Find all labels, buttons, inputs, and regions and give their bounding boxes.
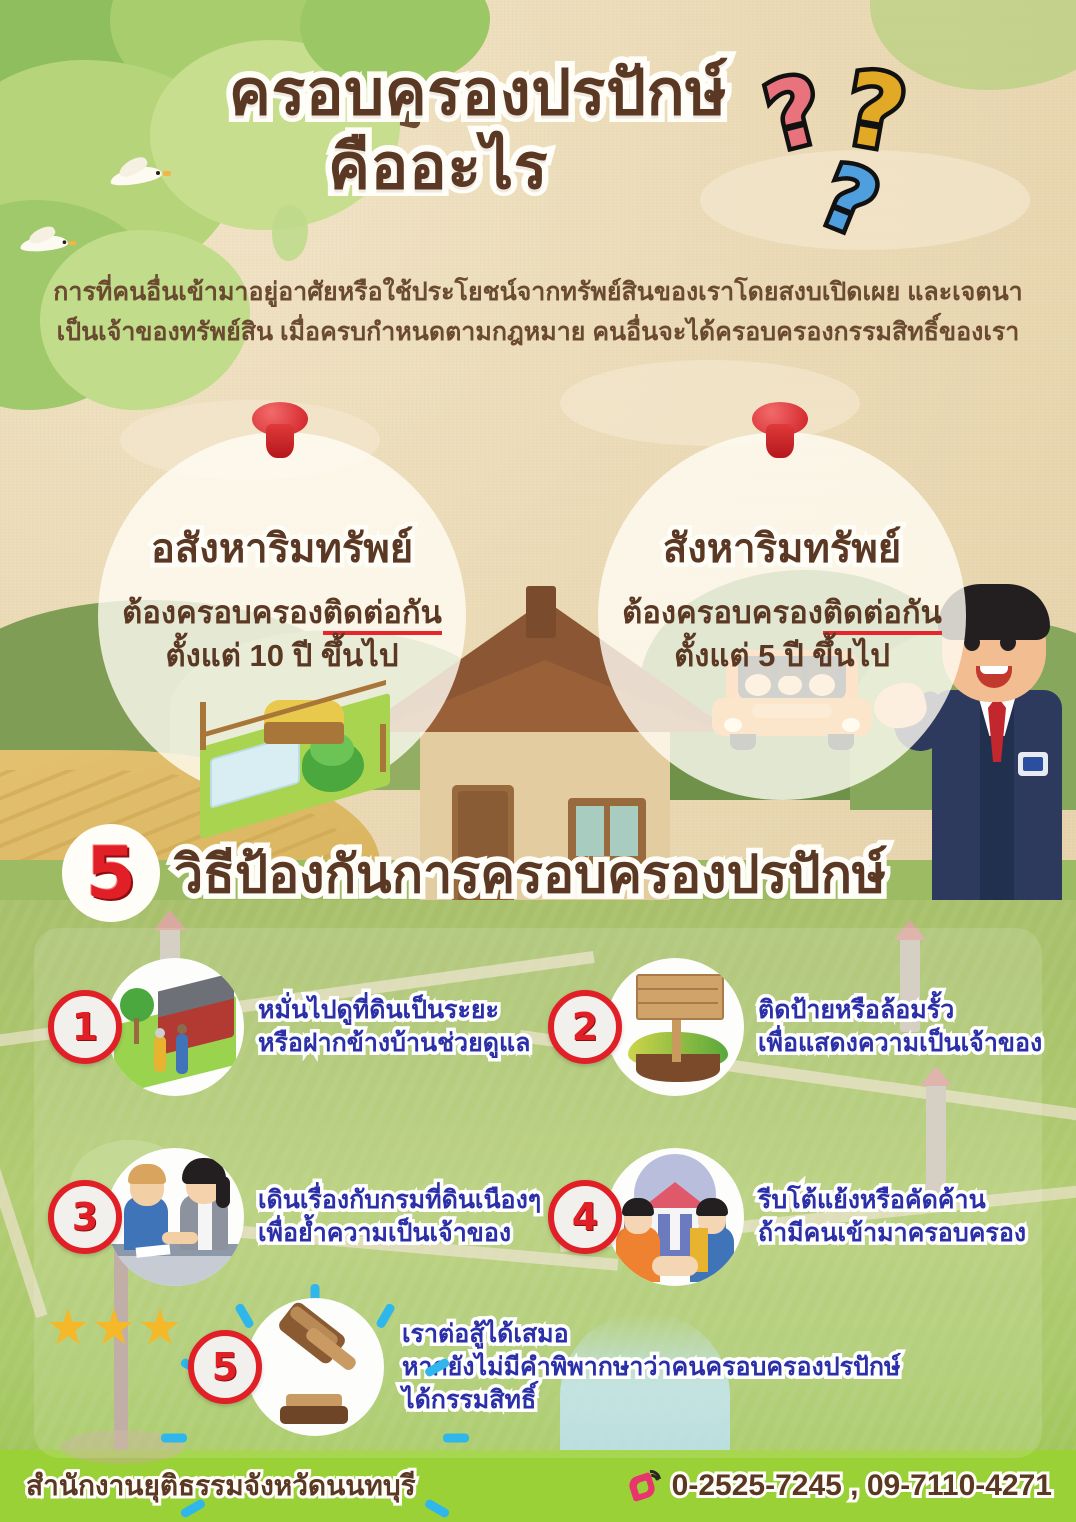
footer: สำนักงานยุติธรรมจังหวัดนนทบุรี 0-2525-72… <box>0 1450 1076 1522</box>
star-icon <box>94 1308 134 1348</box>
tip-line-3: ได้กรรมสิทธิ์ <box>402 1384 901 1417</box>
condition-prefix: ต้องครอบครอง <box>622 595 823 630</box>
cloud-shape <box>560 360 860 446</box>
tip-line-2: เพื่อย้ำความเป็นเจ้าของ <box>258 1217 541 1250</box>
intro-line-2: เป็นเจ้าของทรัพย์สิน เมื่อครบกำหนดตามกฎห… <box>22 312 1054 352</box>
farm-field-people-icon <box>106 958 244 1096</box>
tip-line-2: เพื่อแสดงความเป็นเจ้าของ <box>758 1027 1042 1060</box>
bubble-text-movable: สังหาริมทรัพย์ ต้องครอบครองติดต่อกัน ตั้… <box>572 516 992 678</box>
infographic-page: ครอบครองปรปักษ์ คืออะไร ? ? ? การที่คนอื… <box>0 0 1076 1522</box>
phone-ringing-icon <box>626 1469 660 1503</box>
tip-text: เดินเรื่องกับกรมที่ดินเนืองๆ เพื่อย้ำควา… <box>258 1184 541 1250</box>
star-icon <box>140 1308 180 1348</box>
bubble-condition-line-1: ต้องครอบครองติดต่อกัน <box>72 592 492 635</box>
tip-number-badge: 4 <box>548 1180 622 1254</box>
farm-plot-icon <box>190 688 400 818</box>
bubble-heading: สังหาริมทรัพย์ <box>572 516 992 580</box>
gavel-icon <box>246 1298 384 1436</box>
bubble-condition-line-2: ตั้งแต่ 5 ปี ขึ้นไป <box>572 635 992 678</box>
question-marks-decoration: ? ? ? <box>766 62 966 252</box>
condition-underlined: ติดต่อกัน <box>823 595 942 635</box>
tip-number-badge: 1 <box>48 990 122 1064</box>
tip-line-1: เดินเรื่องกับกรมที่ดินเนืองๆ <box>258 1184 541 1217</box>
tip-item-1: 1 หมั่นไปดูที่ดินเป็นระยะ หรือฝากข้างบ้า… <box>48 958 530 1096</box>
condition-prefix: ต้องครอบครอง <box>122 595 323 630</box>
bird-icon <box>20 227 75 255</box>
bubble-condition-line-1: ต้องครอบครองติดต่อกัน <box>572 592 992 635</box>
consultation-desk-icon <box>106 1148 244 1286</box>
bubble-text-immovable: อสังหาริมทรัพย์ ต้องครอบครองติดต่อกัน ตั… <box>72 516 492 678</box>
tip-line-1: ติดป้ายหรือล้อมรั้ว <box>758 994 1042 1027</box>
tip-line-2: ถ้ามีคนเข้ามาครอบครอง <box>758 1217 1026 1250</box>
tip-item-3: 3 เดินเรื่องกับกรมที่ดินเนืองๆ เพื่อย้ำค… <box>48 1148 541 1286</box>
tip-line-1: เราต่อสู้ได้เสมอ <box>402 1318 901 1351</box>
tip-text: หมั่นไปดูที่ดินเป็นระยะ หรือฝากข้างบ้านช… <box>258 994 530 1060</box>
footer-contact: 0-2525-7245 , 09-7110-4271 <box>626 1469 1052 1503</box>
tip-number-badge: 2 <box>548 990 622 1064</box>
prevention-headline: 5 วิธีป้องกันการครอบครองปรปักษ์ <box>62 824 886 922</box>
condition-underlined: ติดต่อกัน <box>323 595 442 635</box>
footer-organization: สำนักงานยุติธรรมจังหวัดนนทบุรี <box>26 1464 416 1508</box>
tip-item-5: 5 <box>188 1298 901 1436</box>
headline-text: วิธีป้องกันการครอบครองปรปักษ์ <box>174 832 886 915</box>
tip-number-badge: 5 <box>188 1330 262 1404</box>
tip-text: รีบโต้แย้งหรือคัดค้าน ถ้ามีคนเข้ามาครอบค… <box>758 1184 1026 1250</box>
tip-text: เราต่อสู้ได้เสมอ หากยังไม่มีคำพิพากษาว่า… <box>402 1318 901 1417</box>
house-dispute-people-icon <box>606 1148 744 1286</box>
tip-text: ติดป้ายหรือล้อมรั้ว เพื่อแสดงความเป็นเจ้… <box>758 994 1042 1060</box>
star-icon <box>48 1308 88 1348</box>
tip-item-4: 4 รีบโต้แย้งหรือคัดค้าน ถ้ามีคนเข <box>548 1148 1026 1286</box>
tip-item-2: 2 ติดป้ายหรือล้อมรั้ว เพื่อแสดงความเป็นเ… <box>548 958 1042 1096</box>
footer-phone: 0-2525-7245 , 09-7110-4271 <box>672 1469 1052 1503</box>
question-mark-blue-icon: ? <box>810 152 888 250</box>
headline-number-badge: 5 <box>62 824 160 922</box>
tip-number-badge: 3 <box>48 1180 122 1254</box>
bubble-heading: อสังหาริมทรัพย์ <box>72 516 492 580</box>
headline-number: 5 <box>86 837 136 909</box>
tip-line-1: รีบโต้แย้งหรือคัดค้าน <box>758 1184 1026 1217</box>
tip-line-1: หมั่นไปดูที่ดินเป็นระยะ <box>258 994 530 1027</box>
tip-line-2: หรือฝากข้างบ้านช่วยดูแล <box>258 1027 530 1060</box>
intro-line-1: การที่คนอื่นเข้ามาอยู่อาศัยหรือใช้ประโยช… <box>22 272 1054 312</box>
pushpin-icon <box>752 402 808 464</box>
bubble-condition-line-2: ตั้งแต่ 10 ปี ขึ้นไป <box>72 635 492 678</box>
star-decorations <box>48 1308 180 1348</box>
tip-line-2: หากยังไม่มีคำพิพากษาว่าคนครอบครองปรปักษ์ <box>402 1351 901 1384</box>
wooden-signboard-icon <box>606 958 744 1096</box>
pushpin-icon <box>252 402 308 464</box>
intro-paragraph: การที่คนอื่นเข้ามาอยู่อาศัยหรือใช้ประโยช… <box>0 272 1076 352</box>
question-mark-pink-icon: ? <box>758 63 832 165</box>
